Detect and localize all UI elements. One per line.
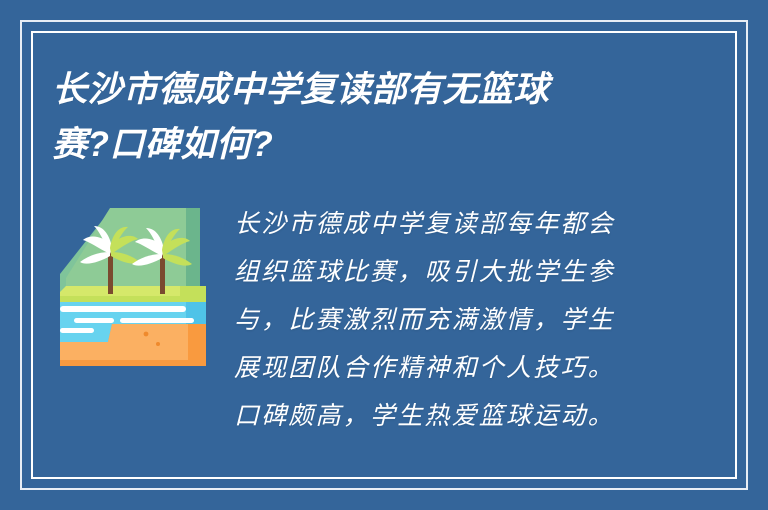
content-row: 长沙市德成中学复读部每年都会 组织篮球比赛，吸引大批学生参 与，比赛激烈而充满激… bbox=[52, 200, 716, 440]
page-title-line-2: 赛?口碑如何? bbox=[52, 117, 692, 172]
article-body-line-4: 展现团队合作精神和个人技巧。 bbox=[234, 344, 716, 392]
page-title: 长沙市德成中学复读部有无篮球 赛?口碑如何? bbox=[52, 62, 692, 173]
page-title-line-1: 长沙市德成中学复读部有无篮球 bbox=[52, 62, 692, 117]
article-body-line-1: 长沙市德成中学复读部每年都会 bbox=[234, 200, 716, 248]
beach-island-illustration bbox=[60, 208, 206, 366]
poster-canvas: 长沙市德成中学复读部有无篮球 赛?口碑如何? bbox=[0, 0, 768, 510]
article-body-line-5: 口碑颇高，学生热爱篮球运动。 bbox=[234, 392, 716, 440]
article-body-line-3: 与，比赛激烈而充满激情，学生 bbox=[234, 296, 716, 344]
article-body: 长沙市德成中学复读部每年都会 组织篮球比赛，吸引大批学生参 与，比赛激烈而充满激… bbox=[234, 200, 716, 440]
article-body-line-2: 组织篮球比赛，吸引大批学生参 bbox=[234, 248, 716, 296]
